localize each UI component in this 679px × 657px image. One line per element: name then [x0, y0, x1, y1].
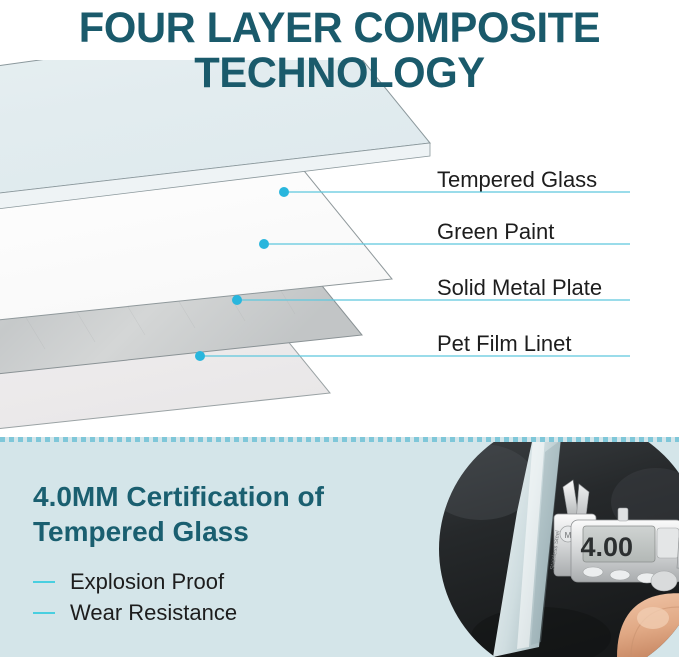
- certification-heading-line-1: 4.0MM Certification of: [33, 479, 324, 514]
- callout-label-tempered-glass: Tempered Glass: [437, 167, 597, 193]
- layer-diagram-svg: [0, 60, 679, 435]
- layer-diagram: [0, 60, 679, 435]
- dash-marker-icon: [33, 612, 55, 614]
- certification-text-block: 4.0MM Certification of Tempered Glass Ex…: [33, 479, 324, 628]
- certification-heading-line-2: Tempered Glass: [33, 514, 324, 549]
- title-line-1: FOUR LAYER COMPOSITE: [10, 0, 669, 51]
- callout-dot-tempered-glass: [279, 187, 289, 197]
- caliper-photo: M Stainless Steel 4.00 2 50 100: [421, 442, 679, 657]
- feature-label: Wear Resistance: [70, 600, 237, 626]
- callout-dot-solid-metal-plate: [232, 295, 242, 305]
- feature-list: Explosion Proof Wear Resistance: [33, 566, 324, 628]
- certification-panel: M Stainless Steel 4.00 2 50 100: [0, 437, 679, 657]
- list-item: Wear Resistance: [33, 597, 324, 628]
- caliper-lcd-reading: 4.00: [580, 532, 633, 562]
- panel-dashed-divider: [0, 437, 679, 442]
- callout-label-solid-metal-plate: Solid Metal Plate: [437, 275, 602, 301]
- callout-label-green-paint: Green Paint: [437, 219, 554, 245]
- callout-dot-green-paint: [259, 239, 269, 249]
- dash-marker-icon: [33, 581, 55, 583]
- product-infographic: FOUR LAYER COMPOSITE TECHNOLOGY: [0, 0, 679, 657]
- feature-label: Explosion Proof: [70, 569, 224, 595]
- callout-dot-pet-film-linet: [195, 351, 205, 361]
- callout-label-pet-film-linet: Pet Film Linet: [437, 331, 572, 357]
- list-item: Explosion Proof: [33, 566, 324, 597]
